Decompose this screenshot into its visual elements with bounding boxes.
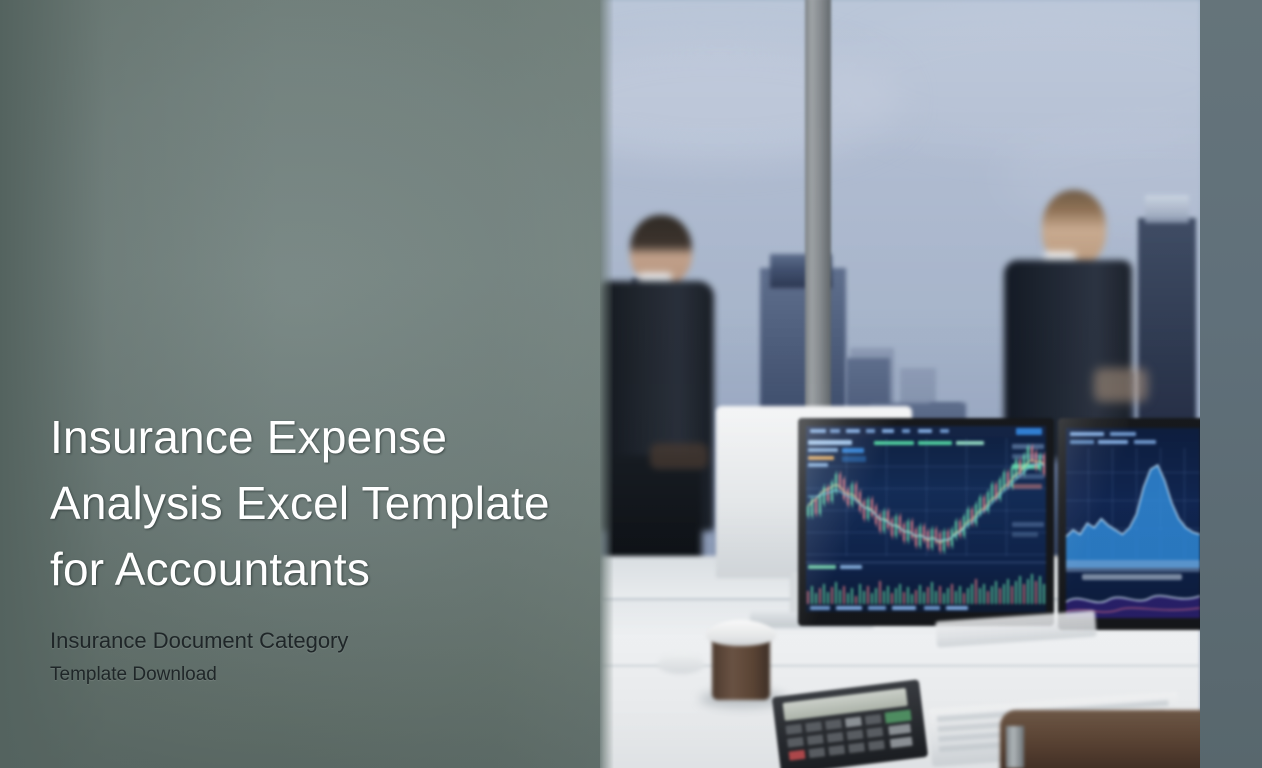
- volume-bar: [807, 591, 809, 604]
- building-right-crown: [1145, 195, 1189, 223]
- volume-bar: [1027, 579, 1029, 604]
- volume-bar: [891, 593, 893, 604]
- volume-bar: [1019, 576, 1021, 604]
- office-chair: [1000, 710, 1200, 768]
- volume-bar: [831, 587, 833, 604]
- area-chart-screen: [1066, 428, 1200, 618]
- volume-bar: [967, 588, 969, 604]
- volume-bar: [887, 586, 889, 604]
- volume-bar: [995, 581, 997, 604]
- coffee-cup-lid: [706, 620, 776, 646]
- volume-bar: [1043, 584, 1045, 604]
- volume-bar: [847, 593, 849, 604]
- volume-bar: [919, 585, 921, 604]
- volume-bar: [851, 588, 853, 604]
- volume-bar: [1023, 584, 1025, 604]
- volume-bar: [963, 593, 965, 604]
- volume-bar: [935, 591, 937, 604]
- volume-bar: [835, 582, 837, 604]
- volume-bar: [1039, 576, 1041, 604]
- right-edge-strip: [1200, 0, 1262, 768]
- volume-bar: [911, 594, 913, 604]
- office-photo: [600, 0, 1200, 768]
- volume-bar: [823, 584, 825, 604]
- volume-bar: [811, 586, 813, 604]
- businessperson-left: [600, 215, 728, 605]
- volume-bar: [1031, 574, 1033, 604]
- volume-bar: [875, 588, 877, 604]
- volume-bar: [1015, 581, 1017, 604]
- trading-monitor: [798, 418, 1054, 626]
- volume-bar: [903, 592, 905, 604]
- volume-bar: [927, 587, 929, 604]
- volume-bar: [955, 591, 957, 604]
- volume-bar: [971, 584, 973, 604]
- area-chart-path: [1066, 442, 1200, 568]
- trading-chart-screen: [806, 426, 1046, 612]
- volume-bar: [975, 579, 977, 604]
- volume-bar: [951, 584, 953, 604]
- ma-line-ma-slow: [806, 426, 1046, 566]
- subtitle-category: Insurance Document Category: [50, 626, 570, 656]
- volume-bar: [1011, 586, 1013, 604]
- secondary-monitor: [1058, 418, 1200, 630]
- volume-series: [806, 572, 1046, 604]
- volume-bar: [943, 593, 945, 604]
- volume-bar: [859, 584, 861, 604]
- volume-bar: [899, 584, 901, 604]
- volume-bar: [855, 596, 857, 604]
- volume-bar: [991, 586, 993, 604]
- volume-bar: [907, 587, 909, 604]
- volume-bar: [987, 591, 989, 604]
- slide-canvas: Insurance Expense Analysis Excel Templat…: [0, 0, 1262, 768]
- volume-bar: [819, 588, 821, 604]
- volume-bar: [839, 590, 841, 604]
- mouse: [658, 652, 704, 674]
- volume-bar: [1007, 579, 1009, 604]
- volume-bar: [947, 588, 949, 604]
- volume-bar: [1003, 584, 1005, 604]
- volume-bar: [863, 591, 865, 604]
- text-block: Insurance Expense Analysis Excel Templat…: [50, 404, 570, 688]
- volume-bar: [999, 588, 1001, 604]
- volume-bar: [879, 581, 881, 604]
- page-title: Insurance Expense Analysis Excel Templat…: [50, 404, 570, 602]
- volume-bar: [959, 586, 961, 604]
- chair-post: [1006, 726, 1024, 768]
- volume-bar: [867, 586, 869, 604]
- subtitle-download: Template Download: [50, 662, 570, 688]
- volume-bar: [983, 584, 985, 604]
- volume-bar: [883, 591, 885, 604]
- volume-bar: [827, 592, 829, 604]
- volume-bar: [923, 592, 925, 604]
- volume-bar: [843, 586, 845, 604]
- volume-bar: [1035, 581, 1037, 604]
- volume-bar: [815, 593, 817, 604]
- volume-bar: [895, 588, 897, 604]
- volume-bar: [939, 586, 941, 604]
- volume-bar: [979, 588, 981, 604]
- volume-bar: [931, 582, 933, 604]
- coffee-cup: [712, 638, 770, 700]
- volume-bar: [871, 593, 873, 604]
- volume-bar: [915, 590, 917, 604]
